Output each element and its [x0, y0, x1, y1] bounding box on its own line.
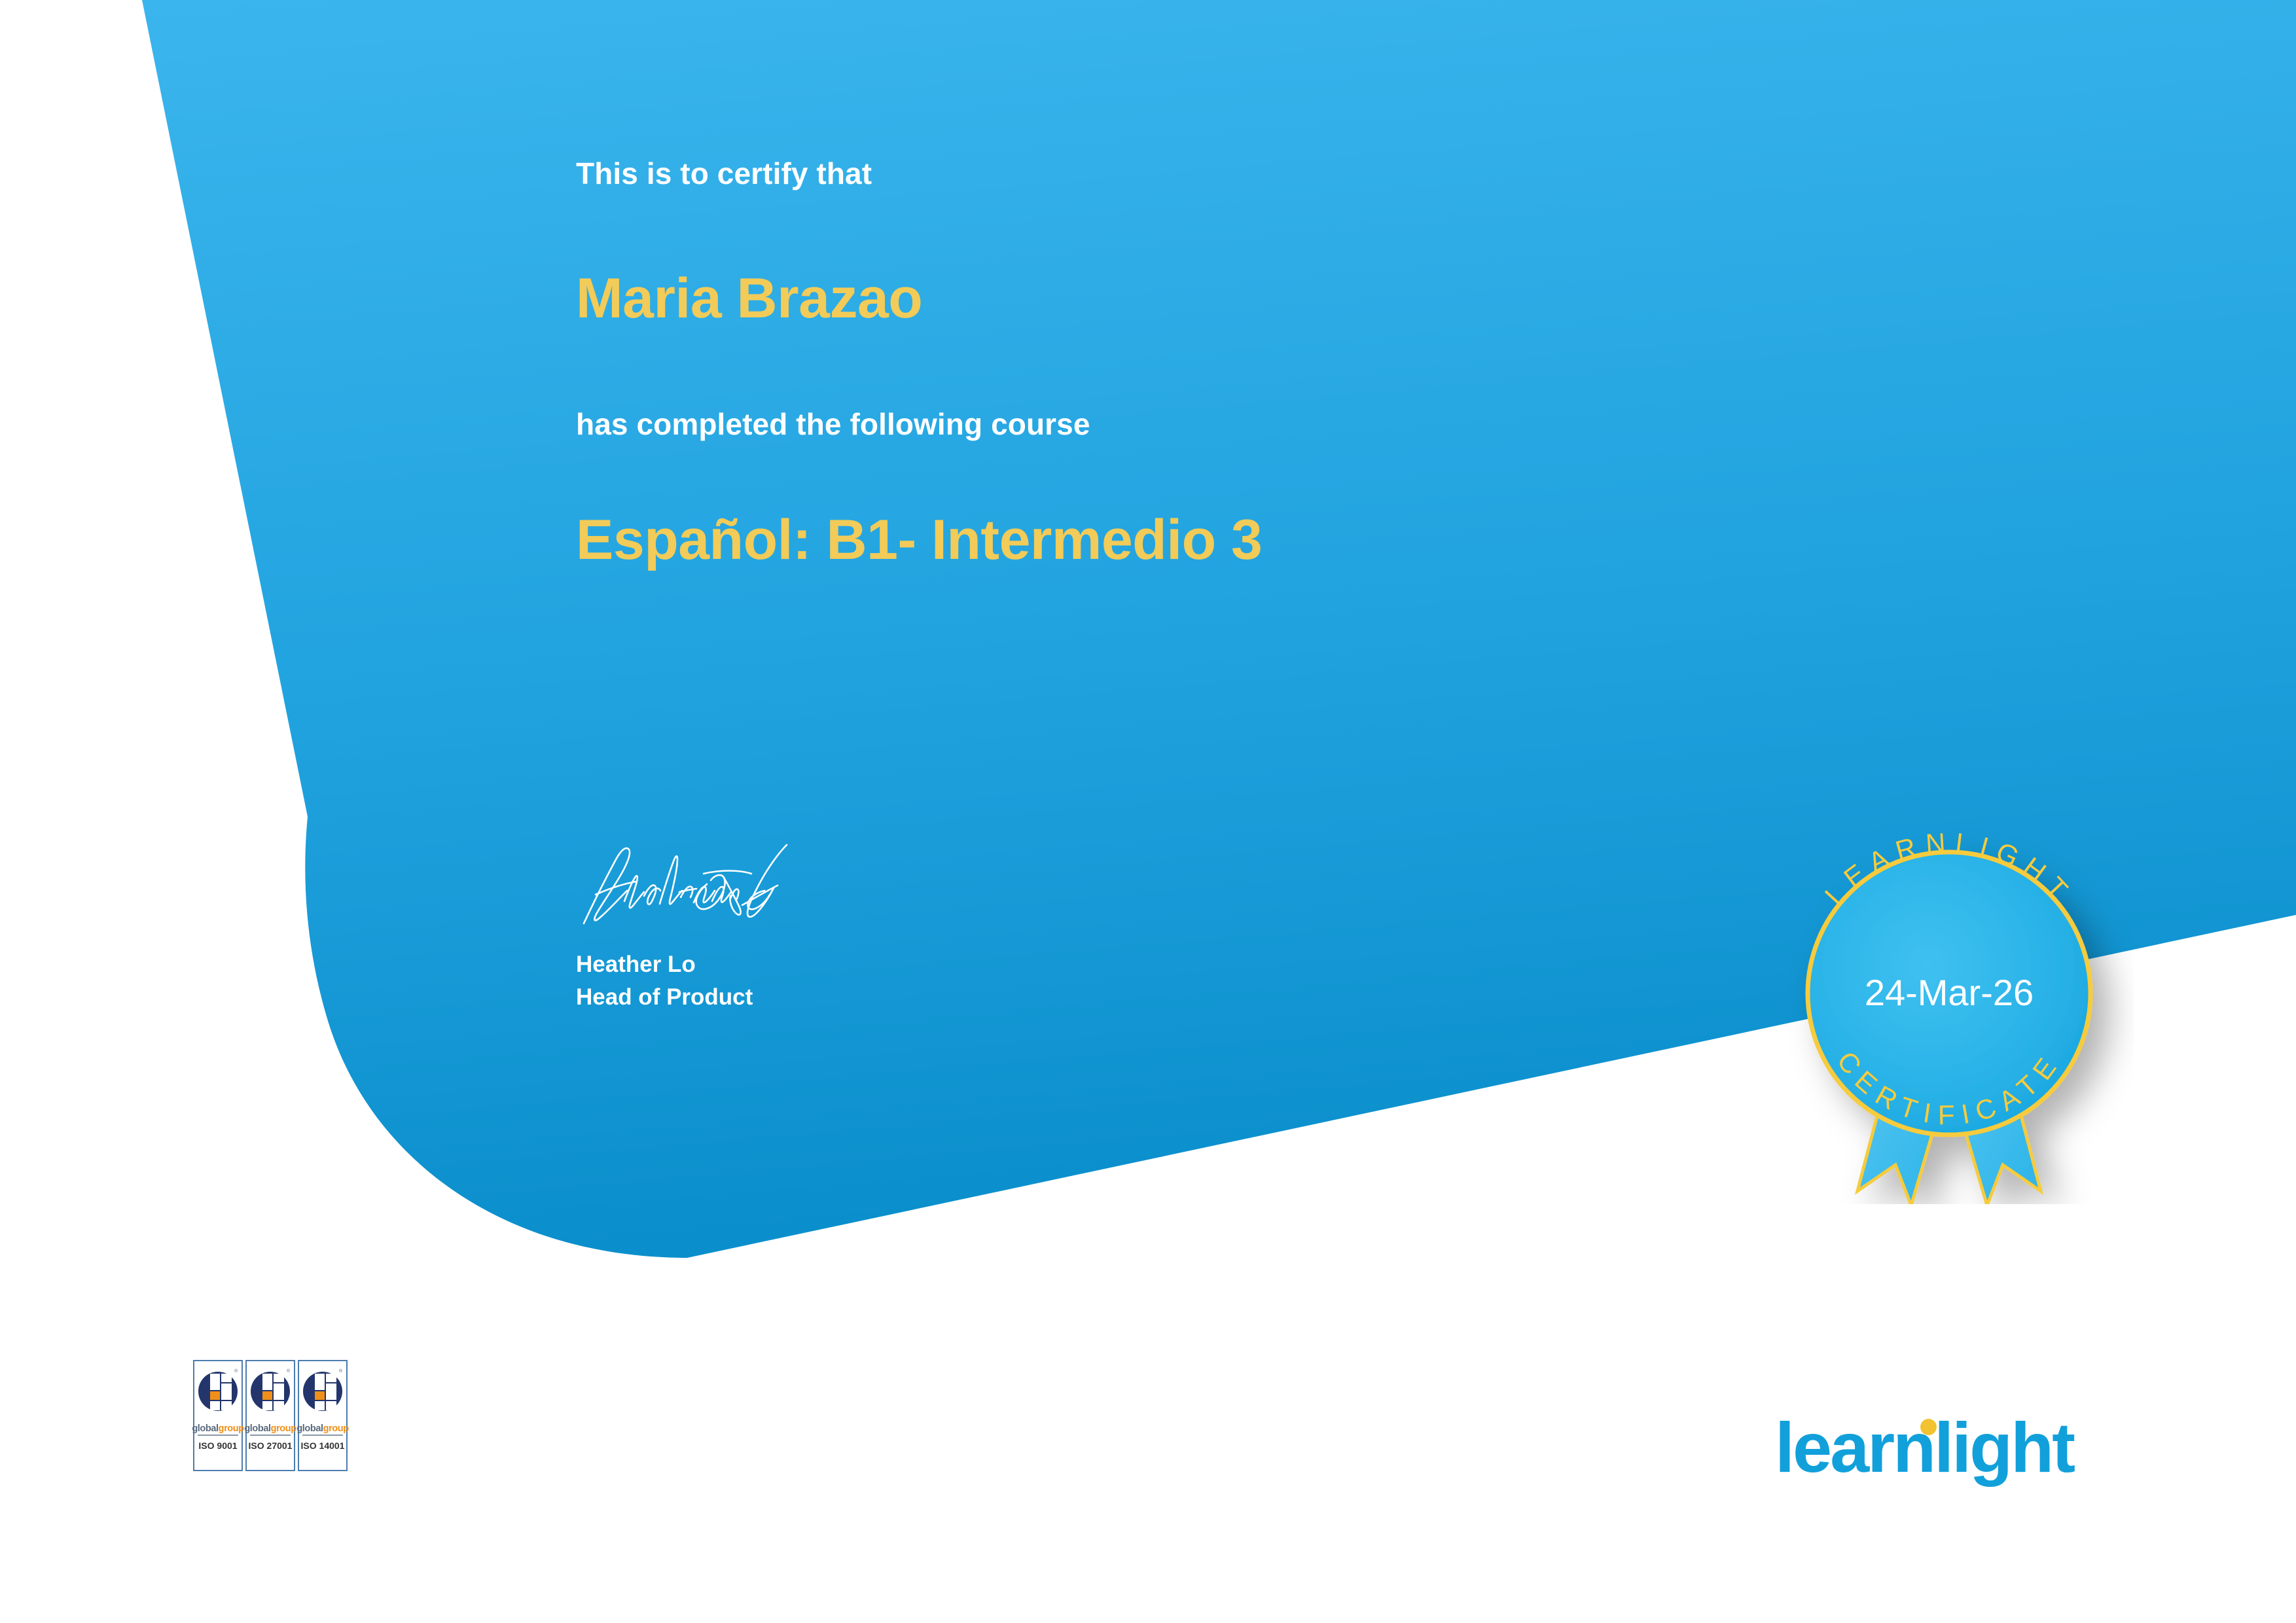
certificate-page: This is to certify that Maria Brazao has…: [0, 0, 2296, 1623]
iso-badge-group: ® globalgroup ISO 9001 ® globalgroup: [193, 1360, 348, 1471]
globalgroup-wordmark: globalgroup: [296, 1423, 348, 1434]
signatory-name: Heather Lo: [576, 948, 1034, 981]
learnlight-logo: learnlight: [1775, 1412, 2102, 1491]
globalgroup-mark-icon: ®: [301, 1365, 344, 1423]
signatory-title: Head of Product: [576, 981, 1034, 1014]
globalgroup-wordmark: globalgroup: [244, 1423, 296, 1434]
seal-date: 24-Mar-26: [1865, 972, 2034, 1013]
learnlight-wordmark: learnlight: [1775, 1412, 2102, 1483]
globalgroup-wordmark: globalgroup: [192, 1423, 243, 1434]
iso-badge-14001: ® globalgroup ISO 14001: [298, 1360, 348, 1471]
certificate-text-block: This is to certify that Maria Brazao has…: [576, 157, 1820, 571]
globalgroup-mark-icon: ®: [249, 1365, 292, 1423]
iso-standard-label: ISO 9001: [198, 1440, 237, 1451]
globalgroup-mark-icon: ®: [196, 1365, 240, 1423]
signature-block: Heather Lo Head of Product: [576, 841, 1034, 1013]
learnlight-dot-icon: [1920, 1419, 1937, 1435]
svg-text:®: ®: [339, 1368, 343, 1374]
iso-standard-label: ISO 27001: [249, 1440, 293, 1451]
divider: [250, 1435, 291, 1436]
intro-line: This is to certify that: [576, 157, 1820, 190]
course-title: Español: B1- Intermedio 3: [576, 509, 1820, 571]
iso-badge-9001: ® globalgroup ISO 9001: [193, 1360, 243, 1471]
iso-badge-27001: ® globalgroup ISO 27001: [245, 1360, 295, 1471]
certificate-seal: LEARNLIGHT CERTIFICATE 24-Mar-26: [1780, 825, 2134, 1204]
svg-text:®: ®: [287, 1368, 291, 1374]
signature-icon: [576, 841, 792, 933]
recipient-name: Maria Brazao: [576, 268, 1820, 330]
divider: [198, 1435, 238, 1436]
divider: [302, 1435, 343, 1436]
completion-line: has completed the following course: [576, 408, 1820, 441]
iso-standard-label: ISO 14001: [301, 1440, 345, 1451]
svg-text:®: ®: [234, 1368, 238, 1374]
